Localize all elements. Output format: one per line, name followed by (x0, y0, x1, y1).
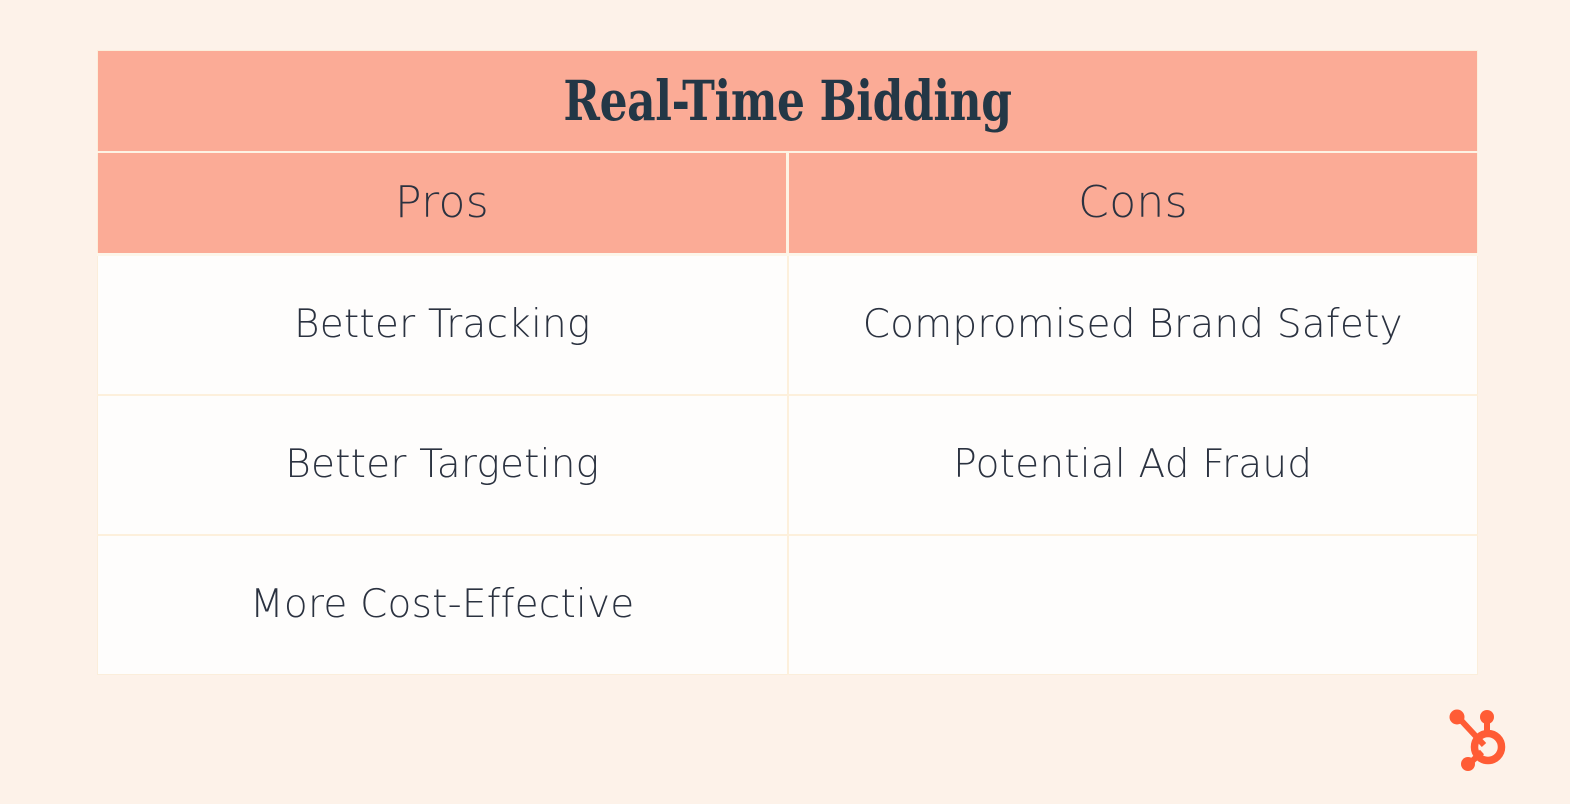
table-title-cell: Real-Time Bidding (98, 51, 1478, 153)
pros-cons-table: Real-Time Bidding Pros Cons Better Track… (97, 50, 1478, 675)
column-header-pros: Pros (98, 152, 788, 255)
page-title: Real-Time Bidding (236, 51, 1339, 151)
cell-pros-2: Better Targeting (98, 395, 788, 535)
column-header-pros-label: Pros (98, 153, 786, 253)
table-row: Better Tracking Compromised Brand Safety (98, 255, 1478, 396)
cell-pros-1: Better Tracking (98, 255, 788, 396)
page-canvas: Real-Time Bidding Pros Cons Better Track… (0, 0, 1570, 804)
hubspot-sprocket-logo (1446, 706, 1512, 774)
cell-cons-2: Potential Ad Fraud (788, 395, 1478, 535)
cell-pros-2-text: Better Targeting (98, 396, 787, 534)
cell-cons-2-text: Potential Ad Fraud (789, 396, 1478, 534)
column-header-cons: Cons (788, 152, 1478, 255)
table-row: Better Targeting Potential Ad Fraud (98, 395, 1478, 535)
cell-cons-1: Compromised Brand Safety (788, 255, 1478, 396)
cell-cons-1-text: Compromised Brand Safety (789, 256, 1478, 394)
table-header-row: Pros Cons (98, 152, 1478, 255)
cell-cons-3-empty (788, 535, 1478, 675)
cell-pros-3: More Cost-Effective (98, 535, 788, 675)
table-row: More Cost-Effective (98, 535, 1478, 675)
cell-pros-1-text: Better Tracking (98, 256, 787, 394)
cell-pros-3-text: More Cost-Effective (98, 536, 787, 674)
column-header-cons-label: Cons (789, 153, 1477, 253)
table-title-row: Real-Time Bidding (98, 51, 1478, 153)
